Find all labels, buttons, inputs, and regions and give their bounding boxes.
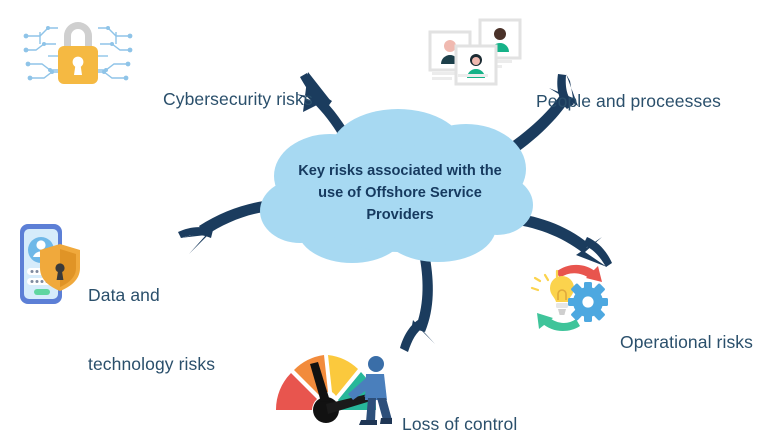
label-loss-line-1: Loss of control xyxy=(402,413,517,432)
cloud-text-line-2: use of Offshore Service xyxy=(283,182,517,204)
cloud-text-line-3: Providers xyxy=(283,204,517,226)
diagram-canvas: Key risks associated with the use of Off… xyxy=(0,0,768,432)
label-cybersecurity-line-1: Cybersecurity risks xyxy=(163,88,313,111)
label-data-and-technology-risks: Data and technology risks xyxy=(88,238,215,423)
cloud-text-line-1: Key risks associated with the xyxy=(283,160,517,182)
label-data-line-2: technology risks xyxy=(88,353,215,376)
label-data-line-1: Data and xyxy=(88,284,215,307)
phone-shield-icon xyxy=(8,218,88,310)
lightbulb-gear-cycle-icon xyxy=(524,258,612,338)
label-operational-risks: Operational risks xyxy=(620,285,753,400)
gauge-person-icon xyxy=(268,338,392,426)
label-loss-of-control: Loss of control xyxy=(402,367,517,432)
label-people-and-processes: People and proceesses xyxy=(536,44,721,159)
people-cards-icon xyxy=(424,18,528,90)
cloud-center-text: Key risks associated with the use of Off… xyxy=(283,160,517,227)
label-operational-line-1: Operational risks xyxy=(620,331,753,354)
label-people-line-1: People and proceesses xyxy=(536,90,721,113)
label-cybersecurity-risks: Cybersecurity risks xyxy=(163,42,313,157)
padlock-circuit-icon xyxy=(18,10,138,98)
